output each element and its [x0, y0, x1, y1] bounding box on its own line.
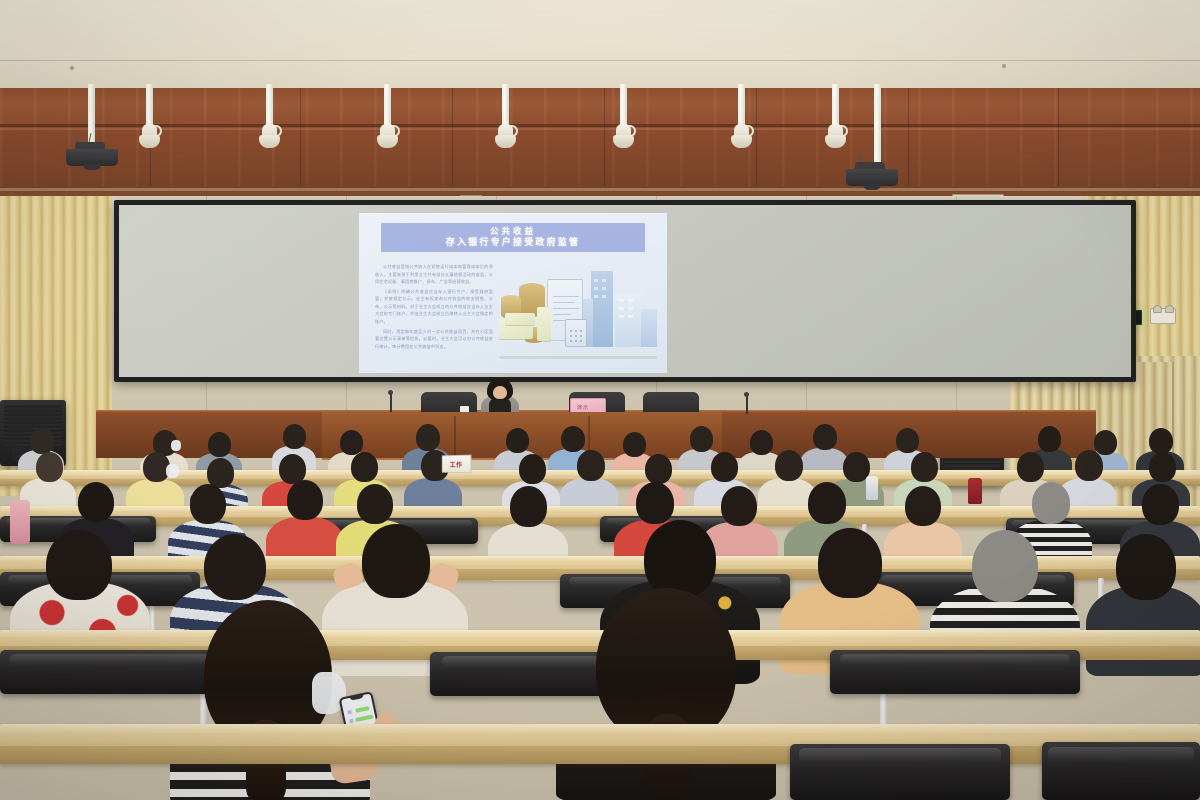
lecture-hall-photo: EXIT 公共收益 存入银行专户接受政府监管 公共收益是指公共收入在扣除运行成本… — [0, 0, 1200, 800]
slide-illustration — [499, 265, 657, 365]
stage-light — [824, 124, 848, 150]
stage-light-barndoor — [613, 135, 634, 148]
stage-light-barndoor — [259, 135, 280, 148]
soffit-rail — [0, 124, 1200, 127]
projection-screen: 公共收益 存入银行专户接受政府监管 公共收益是指公共收入在扣除运行成本和管理成本… — [114, 200, 1136, 382]
thermos-cup — [968, 478, 982, 504]
table-placard: 工作 — [442, 455, 472, 474]
wood-soffit-band — [0, 88, 1200, 198]
illustration-ground — [499, 356, 657, 359]
stage-light-barndoor — [139, 135, 160, 148]
stage-light-barndoor — [825, 135, 846, 148]
stage-light — [138, 124, 162, 150]
soffit-lip-highlight — [0, 188, 1200, 191]
slide-paragraph: 同时，规定每年度至少对一次公共收益项目，并在小区显著位置公示清单等信息。必要时，… — [375, 328, 493, 351]
emergency-lamp — [1165, 305, 1174, 313]
soffit-panel-seam — [1058, 88, 1059, 198]
illustration-calculator — [565, 319, 587, 347]
microphone-stand — [746, 396, 748, 414]
bench-seat[interactable] — [830, 650, 1080, 694]
stage-light — [258, 124, 282, 150]
emergency-light — [1150, 308, 1176, 324]
soffit-panel-seam — [300, 88, 301, 198]
slide-title-banner: 公共收益 存入银行专户接受政府监管 — [381, 223, 645, 252]
soffit-panel-seam — [452, 88, 453, 198]
illustration-building — [591, 271, 613, 347]
placard-text: 工作 — [450, 459, 463, 468]
stage-light — [376, 124, 400, 150]
soffit-panel-seam — [756, 88, 757, 198]
illustration-building — [641, 309, 657, 347]
stage-light-barndoor — [377, 135, 398, 148]
laptop-label: 演示 — [577, 404, 589, 411]
stage-light — [730, 124, 754, 150]
emergency-lamp — [1153, 305, 1162, 313]
slide-paragraph: 公共收益是指公共收入在扣除运行成本和管理成本后的净收入，主要来源于利用业主共有部… — [375, 263, 493, 286]
microphone-head — [744, 392, 749, 397]
projector-left — [66, 142, 118, 168]
stage-light-barndoor — [495, 135, 516, 148]
soffit-panel-seam — [908, 88, 909, 198]
slide-title-line2: 存入银行专户接受政府监管 — [381, 237, 645, 249]
microphone-head — [388, 390, 393, 395]
screen-surface: 公共收益 存入银行专户接受政府监管 公共收益是指公共收入在扣除运行成本和管理成本… — [119, 205, 1131, 377]
slide-title-line1: 公共收益 — [381, 226, 645, 237]
projector-pole — [874, 84, 881, 170]
soffit-panel-seam — [604, 88, 605, 198]
ceiling-fixture-dot — [1002, 64, 1006, 68]
projector-right — [846, 162, 898, 188]
slide-body-text: 公共收益是指公共收入在扣除运行成本和管理成本后的净收入，主要来源于利用业主共有部… — [375, 263, 493, 352]
ceiling-seam — [0, 60, 1200, 61]
microphone-stand — [390, 394, 392, 414]
wood-grain-texture — [0, 88, 1200, 198]
ceiling — [0, 0, 1200, 92]
soffit-rail-highlight — [0, 128, 1200, 130]
illustration-cash-bundle — [537, 307, 551, 341]
bench-seat[interactable] — [1042, 742, 1200, 800]
illustration-cash-bundle — [505, 313, 535, 325]
desk-row-nearest — [0, 724, 1200, 764]
bench-seat[interactable] — [790, 744, 1010, 800]
ceiling-fixture-dot — [70, 66, 74, 70]
stage-light-barndoor — [731, 135, 752, 148]
stage-light — [612, 124, 636, 150]
audience-person-foreground-right — [556, 588, 776, 800]
presentation-slide: 公共收益 存入银行专户接受政府监管 公共收益是指公共收入在扣除运行成本和管理成本… — [359, 213, 667, 373]
slide-paragraph: 《条例》明确公共收益应当存入银行专户，接受政府监管，并按规定公示。业主有权查询公… — [375, 288, 493, 326]
illustration-building — [615, 293, 641, 347]
stage-light — [494, 124, 518, 150]
